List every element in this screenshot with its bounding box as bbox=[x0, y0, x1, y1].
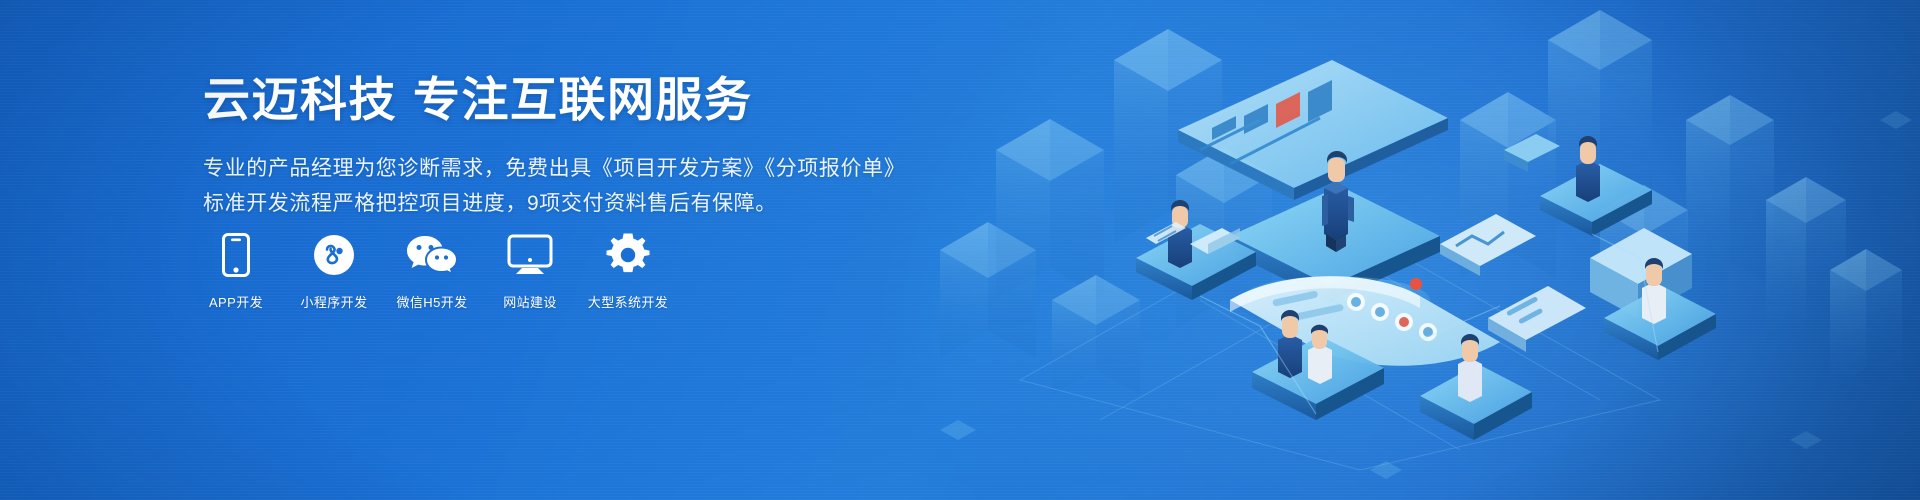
subtitle-line-2: 标准开发流程严格把控项目进度，9项交付资料售后有保障。 bbox=[203, 186, 903, 221]
service-label: 大型系统开发 bbox=[588, 292, 668, 311]
hero-subtitle: 专业的产品经理为您诊断需求，免费出具《项目开发方案》《分项报价单》 标准开发流程… bbox=[203, 151, 903, 221]
service-label: 微信H5开发 bbox=[396, 292, 467, 311]
service-label: 小程序开发 bbox=[300, 292, 367, 311]
mobile-phone-icon bbox=[222, 232, 250, 278]
gear-icon bbox=[606, 232, 650, 278]
subtitle-line-1: 专业的产品经理为您诊断需求，免费出具《项目开发方案》《分项报价单》 bbox=[203, 151, 903, 186]
service-item-large-system[interactable]: 大型系统开发 bbox=[592, 232, 664, 311]
service-item-wechat-h5[interactable]: 微信H5开发 bbox=[396, 232, 468, 311]
title-tagline: 专注互联网服务 bbox=[413, 73, 753, 126]
illustration-isometric-scene bbox=[900, 0, 1920, 500]
service-label: APP开发 bbox=[209, 292, 263, 311]
service-item-mini-program[interactable]: 小程序开发 bbox=[298, 232, 370, 311]
monitor-icon bbox=[507, 232, 553, 278]
service-list: APP开发 小程序开发 bbox=[200, 232, 690, 311]
hero-banner: 云迈科技专注互联网服务 专业的产品经理为您诊断需求，免费出具《项目开发方案》《分… bbox=[0, 0, 1920, 500]
hero-copy: 云迈科技专注互联网服务 专业的产品经理为您诊断需求，免费出具《项目开发方案》《分… bbox=[203, 72, 903, 221]
wechat-icon bbox=[406, 232, 458, 278]
service-item-website[interactable]: 网站建设 bbox=[494, 232, 566, 311]
floating-ui-card bbox=[1488, 286, 1586, 352]
service-label: 网站建设 bbox=[503, 292, 557, 311]
data-sheet-wave bbox=[1230, 276, 1500, 366]
title-brand: 云迈科技 bbox=[203, 73, 397, 126]
page-title: 云迈科技专注互联网服务 bbox=[203, 72, 903, 127]
mini-program-icon bbox=[313, 232, 355, 278]
service-item-app[interactable]: APP开发 bbox=[200, 232, 272, 311]
